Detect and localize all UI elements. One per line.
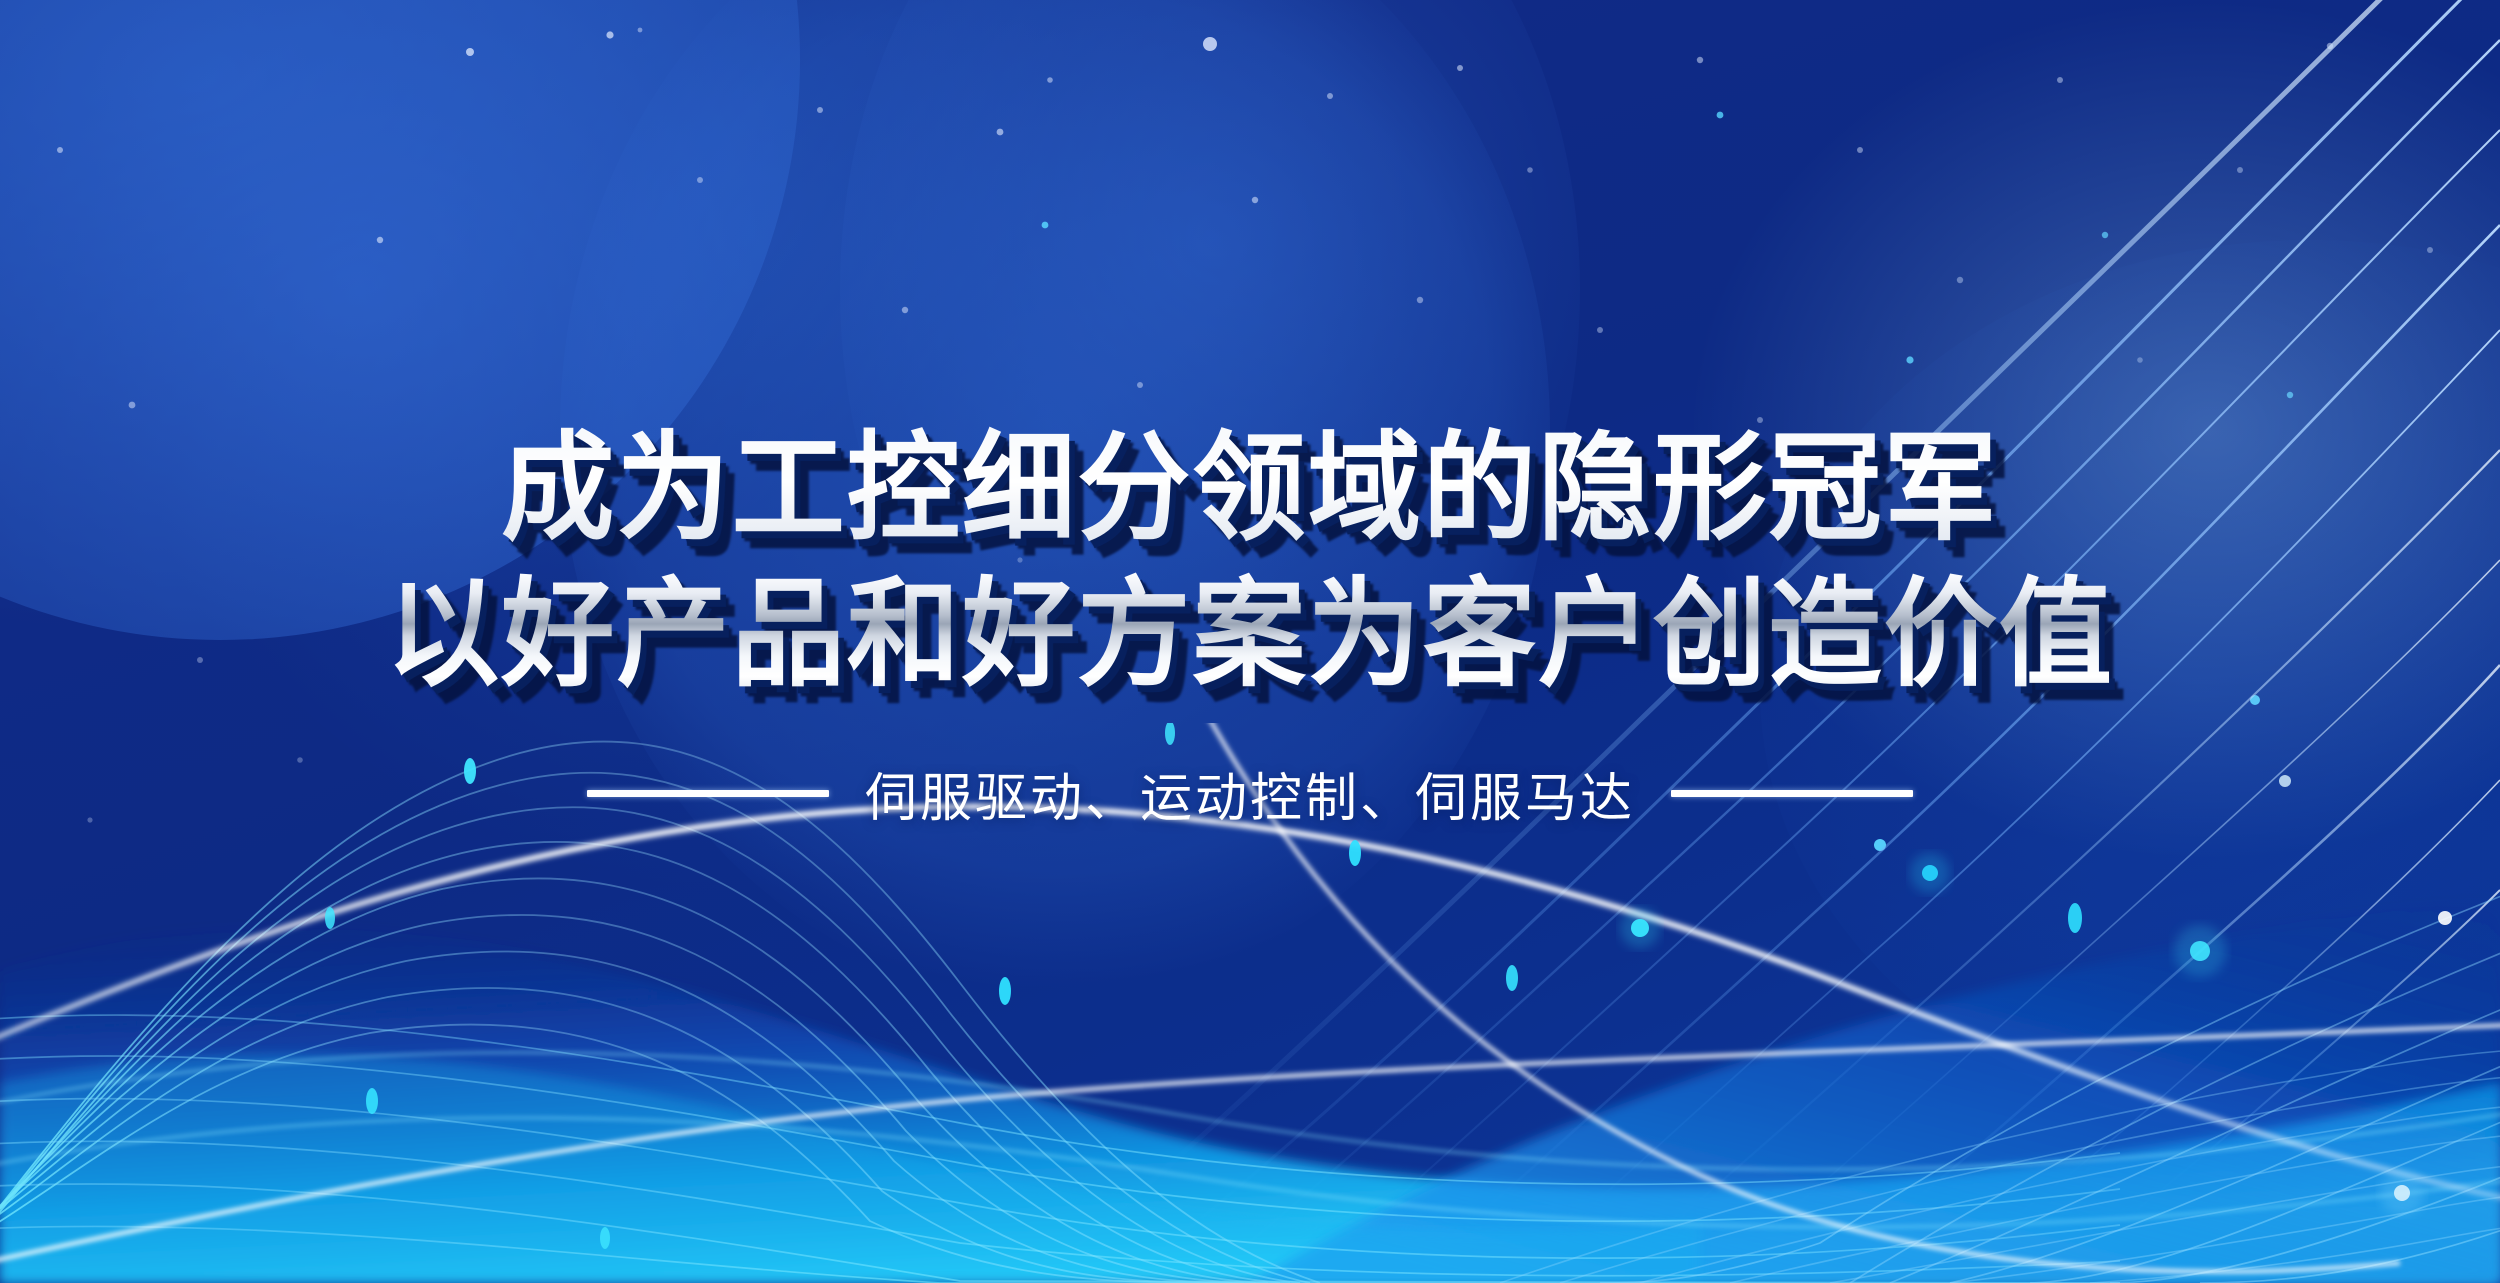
subtitle-rule-left bbox=[587, 790, 829, 797]
subtitle-rule-right bbox=[1671, 790, 1913, 797]
headline-line-1: 成为工控细分领域的隐形冠军 bbox=[50, 0, 2450, 548]
promo-banner: 成为工控细分领域的隐形冠军 以好产品和好方案为客户创造价值 伺服驱动、运动控制、… bbox=[0, 0, 2500, 1283]
subtitle-row: 伺服驱动、运动控制、伺服马达 bbox=[0, 756, 2500, 831]
subtitle-text: 伺服驱动、运动控制、伺服马达 bbox=[865, 756, 1635, 831]
headline-line-2: 以好产品和好方案为客户创造价值 bbox=[50, 548, 2450, 694]
banner-content: 成为工控细分领域的隐形冠军 以好产品和好方案为客户创造价值 伺服驱动、运动控制、… bbox=[0, 0, 2500, 831]
